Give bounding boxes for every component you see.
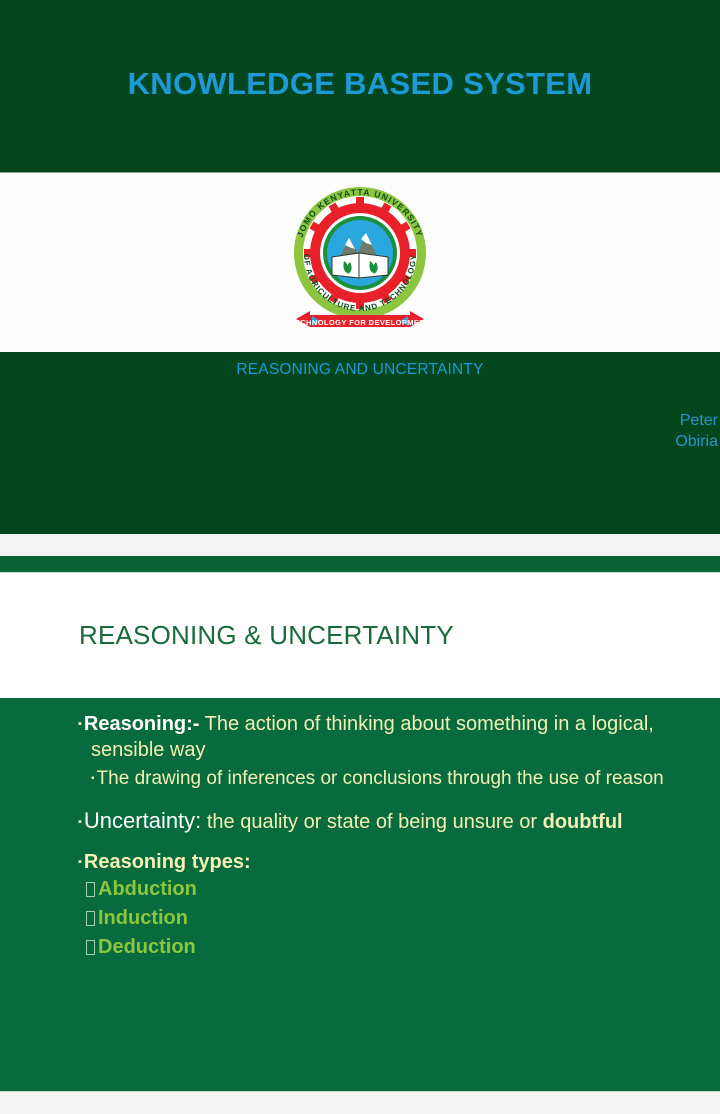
list-item-label: Deduction — [98, 936, 196, 958]
tofu-box-icon — [86, 882, 95, 897]
author-last-name: Obiria — [675, 431, 718, 452]
list-item-label: Abduction — [98, 878, 197, 900]
bullet-reasoning-lead: Reasoning:- — [84, 713, 200, 735]
jkuat-logo-icon: JOMO KENYATTA UNIVERSITY OF AGRICULTURE … — [286, 183, 434, 343]
slide2-bottom-rule — [0, 1091, 720, 1092]
list-item-deduction: Deduction — [78, 933, 680, 962]
author-first-name: Peter — [675, 410, 718, 431]
slide1-logo-band: JOMO KENYATTA UNIVERSITY OF AGRICULTURE … — [0, 172, 720, 352]
slide-2: REASONING & UNCERTAINTY ▪Reasoning:- The… — [0, 556, 720, 1092]
bullet-inferences-text: The drawing of inferences or conclusions… — [97, 768, 664, 789]
bullet-reasoning: ▪Reasoning:- The action of thinking abou… — [78, 712, 680, 763]
list-item-label: Induction — [98, 907, 188, 929]
tofu-box-icon — [86, 940, 95, 955]
jkuat-logo: JOMO KENYATTA UNIVERSITY OF AGRICULTURE … — [286, 183, 434, 343]
presentation-author: Peter Obiria — [675, 410, 718, 452]
list-item-induction: Induction — [78, 904, 680, 933]
square-bullet-icon: ▪ — [91, 773, 95, 784]
slide-deck: KNOWLEDGE BASED SYSTEM — [0, 0, 720, 1114]
slide1-title-band: KNOWLEDGE BASED SYSTEM — [0, 0, 720, 172]
square-bullet-icon: ▪ — [78, 816, 82, 828]
logo-banner-text: TECHNOLOGY FOR DEVELOPMENT — [290, 318, 430, 327]
presentation-title: KNOWLEDGE BASED SYSTEM — [128, 66, 593, 102]
bullet-uncertainty: ▪Uncertainty: the quality or state of be… — [78, 808, 680, 836]
slide2-body: ▪Reasoning:- The action of thinking abou… — [0, 698, 720, 1091]
slide2-heading: REASONING & UNCERTAINTY — [79, 620, 454, 651]
slide1-lower-band: REASONING AND UNCERTAINTY Peter Obiria — [0, 352, 720, 534]
reasoning-types-label-text: Reasoning types: — [84, 851, 251, 873]
slide2-header: REASONING & UNCERTAINTY — [0, 573, 720, 698]
square-bullet-icon: ▪ — [78, 856, 82, 868]
square-bullet-icon: ▪ — [78, 718, 82, 730]
slide-1: KNOWLEDGE BASED SYSTEM — [0, 0, 720, 534]
spacer — [78, 794, 680, 808]
page-bottom-padding — [0, 1092, 720, 1114]
slide2-top-bar — [0, 556, 720, 573]
presentation-subtitle: REASONING AND UNCERTAINTY — [0, 361, 720, 379]
list-item-abduction: Abduction — [78, 875, 680, 904]
bullet-inferences: ▪The drawing of inferences or conclusion… — [78, 766, 680, 791]
bullet-uncertainty-text: the quality or state of being unsure or — [201, 811, 542, 833]
slide-gap — [0, 534, 720, 556]
tofu-box-icon — [86, 911, 95, 926]
bullet-uncertainty-lead: Uncertainty: — [84, 808, 201, 833]
bullet-uncertainty-tail: doubtful — [543, 811, 623, 833]
reasoning-types-label: ▪Reasoning types: — [78, 849, 680, 875]
spacer — [78, 839, 680, 849]
